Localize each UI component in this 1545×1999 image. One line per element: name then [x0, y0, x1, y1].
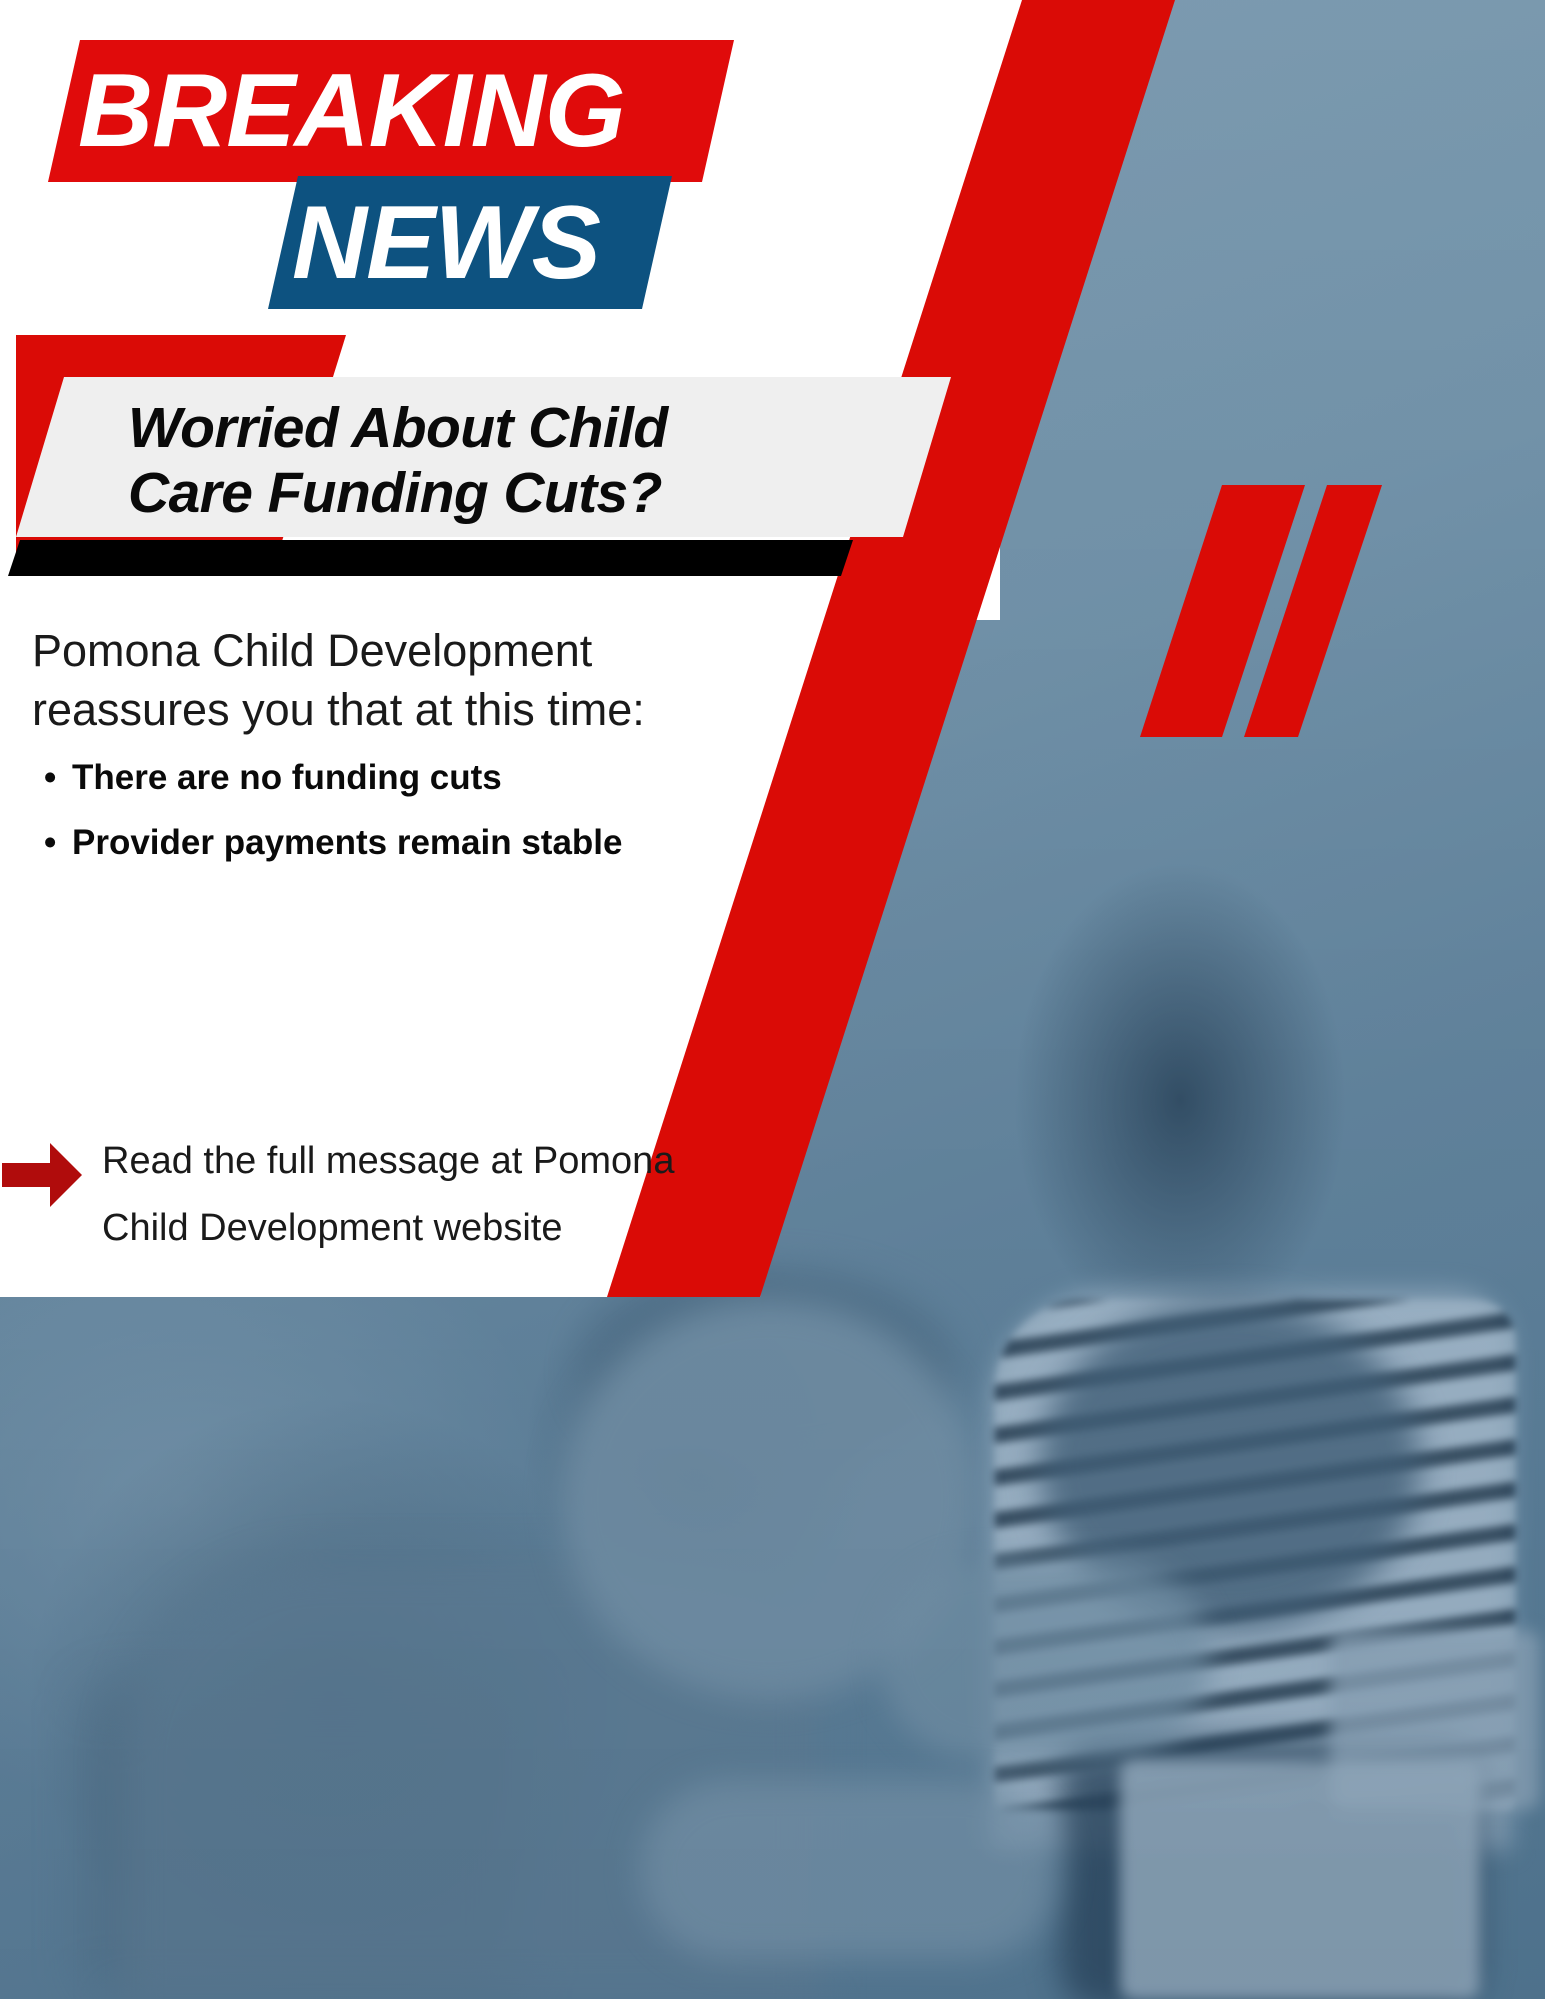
list-item: Provider payments remain stable — [44, 825, 764, 860]
news-label: NEWS — [292, 178, 684, 308]
breaking-label: BREAKING — [78, 44, 738, 178]
page-title: Worried About Child Care Funding Cuts? — [128, 396, 948, 526]
lede-paragraph: Pomona Child Development reassures you t… — [32, 622, 732, 739]
cta-text: Read the full message at Pomona Child De… — [102, 1128, 742, 1261]
assurance-list: There are no funding cuts Provider payme… — [44, 760, 764, 890]
headline-underbar — [8, 540, 853, 576]
list-item: There are no funding cuts — [44, 760, 764, 795]
breaking-news-poster: BREAKING NEWS Worried About Child Care F… — [0, 0, 1545, 1999]
